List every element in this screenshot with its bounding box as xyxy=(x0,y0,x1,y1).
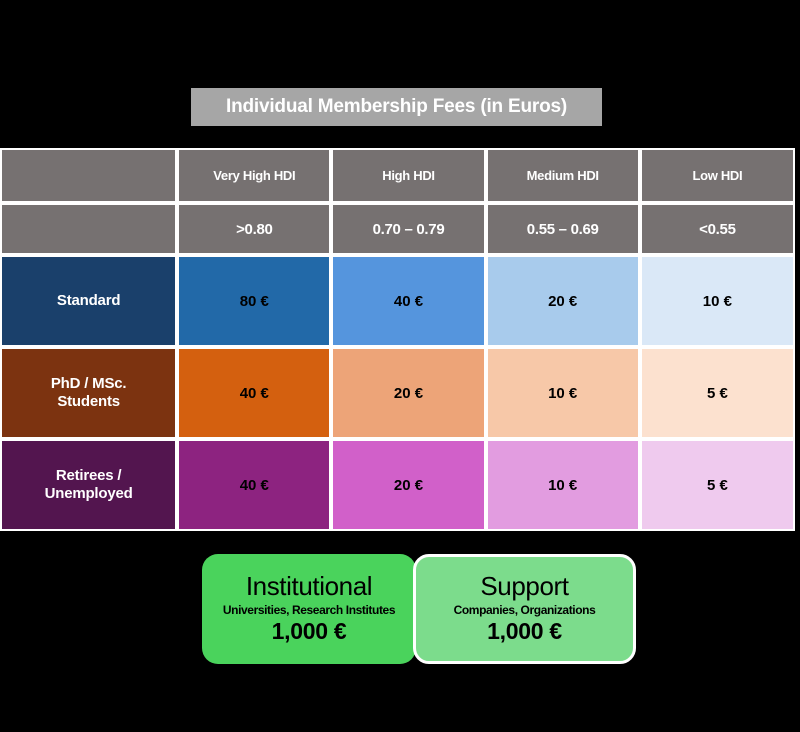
fee-students-high-hdi: 20 € xyxy=(331,347,485,439)
row-label-students-line1: PhD / MSc. xyxy=(51,375,127,392)
fee-standard-high-hdi: 40 € xyxy=(331,255,485,347)
table-header-row: Very High HDI High HDI Medium HDI Low HD… xyxy=(0,148,795,203)
fee-students-medium-hdi: 10 € xyxy=(486,347,640,439)
column-header-very-high-hdi: Very High HDI xyxy=(177,148,331,203)
row-label-retirees-line1: Retirees / xyxy=(56,467,122,484)
tier-title-institutional: Institutional xyxy=(246,573,372,600)
column-range-very-high-hdi: >0.80 xyxy=(177,203,331,255)
row-label-students-line2: Students xyxy=(57,393,120,410)
fee-retirees-high-hdi: 20 € xyxy=(331,439,485,531)
row-label-retirees: Retirees / Unemployed xyxy=(0,439,177,531)
fee-standard-medium-hdi: 20 € xyxy=(486,255,640,347)
column-range-high-hdi: 0.70 – 0.79 xyxy=(331,203,485,255)
tier-subtitle-support: Companies, Organizations xyxy=(454,603,596,617)
tier-box-support[interactable]: Support Companies, Organizations 1,000 € xyxy=(413,554,636,664)
tier-amount-support: 1,000 € xyxy=(487,618,562,645)
column-header-high-hdi: High HDI xyxy=(331,148,485,203)
title-banner: Individual Membership Fees (in Euros) xyxy=(191,88,602,126)
tier-boxes: Institutional Universities, Research Ins… xyxy=(202,554,636,664)
fee-retirees-low-hdi: 5 € xyxy=(640,439,795,531)
tier-amount-institutional: 1,000 € xyxy=(272,618,347,645)
page-title: Individual Membership Fees (in Euros) xyxy=(226,96,567,118)
tier-box-institutional[interactable]: Institutional Universities, Research Ins… xyxy=(202,554,416,664)
fee-students-low-hdi: 5 € xyxy=(640,347,795,439)
fee-standard-very-high-hdi: 80 € xyxy=(177,255,331,347)
header-corner-cell xyxy=(0,148,177,203)
fee-students-very-high-hdi: 40 € xyxy=(177,347,331,439)
subheader-corner-cell xyxy=(0,203,177,255)
table-row-standard: Standard 80 € 40 € 20 € 10 € xyxy=(0,255,795,347)
fee-retirees-very-high-hdi: 40 € xyxy=(177,439,331,531)
column-range-medium-hdi: 0.55 – 0.69 xyxy=(486,203,640,255)
fee-retirees-medium-hdi: 10 € xyxy=(486,439,640,531)
table-subheader-row: >0.80 0.70 – 0.79 0.55 – 0.69 <0.55 xyxy=(0,203,795,255)
fee-standard-low-hdi: 10 € xyxy=(640,255,795,347)
table-row-retirees: Retirees / Unemployed 40 € 20 € 10 € 5 € xyxy=(0,439,795,531)
column-range-low-hdi: <0.55 xyxy=(640,203,795,255)
table-row-students: PhD / MSc. Students 40 € 20 € 10 € 5 € xyxy=(0,347,795,439)
column-header-low-hdi: Low HDI xyxy=(640,148,795,203)
row-label-retirees-line2: Unemployed xyxy=(45,485,133,502)
membership-fee-table: Very High HDI High HDI Medium HDI Low HD… xyxy=(0,148,795,531)
row-label-students: PhD / MSc. Students xyxy=(0,347,177,439)
tier-title-support: Support xyxy=(480,573,568,600)
column-header-medium-hdi: Medium HDI xyxy=(486,148,640,203)
tier-subtitle-institutional: Universities, Research Institutes xyxy=(223,603,395,617)
row-label-standard: Standard xyxy=(0,255,177,347)
